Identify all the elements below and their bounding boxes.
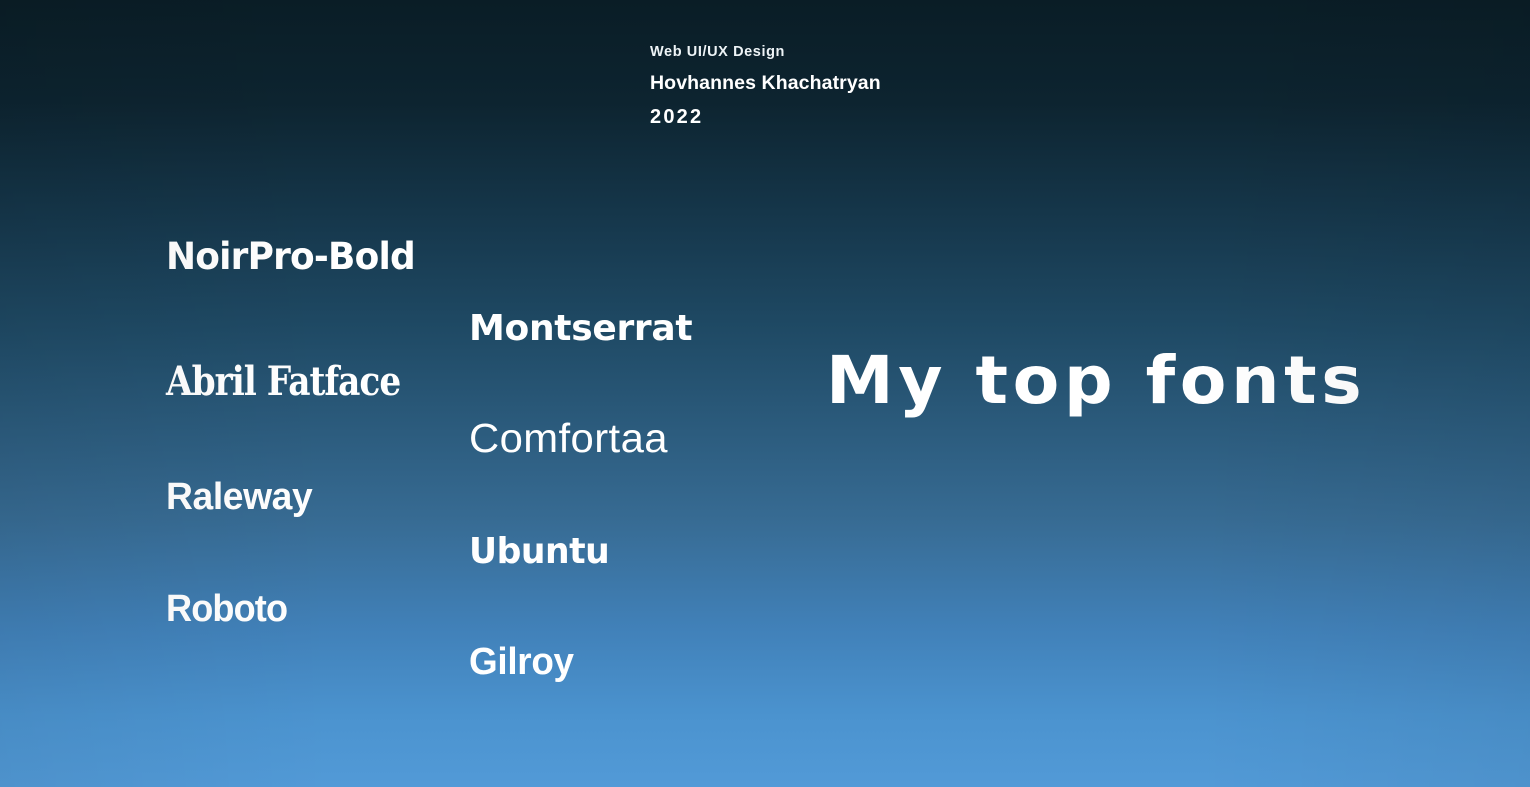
font-specimen-comfortaa: Comfortaa	[469, 418, 668, 459]
font-specimen-raleway: Raleway	[166, 478, 312, 516]
designer-name: Hovhannes Khachatryan	[650, 73, 881, 94]
font-specimen-abril-fatface: Abril Fatface	[166, 362, 400, 402]
font-showcase-poster: Web UI/UX Design Hovhannes Khachatryan 2…	[0, 0, 1530, 787]
designer-role: Web UI/UX Design	[650, 45, 881, 61]
font-specimen-gilroy: Gilroy	[469, 643, 574, 681]
font-specimen-ubuntu: Ubuntu	[469, 534, 609, 570]
poster-headline: My top fonts	[826, 348, 1366, 414]
font-specimen-roboto: Roboto	[166, 590, 287, 628]
font-specimen-noirpro-bold: NoirPro-Bold	[166, 238, 415, 275]
font-specimen-montserrat: Montserrat	[469, 311, 692, 347]
year-label: 2022	[650, 106, 881, 128]
header-credits-block: Web UI/UX Design Hovhannes Khachatryan 2…	[650, 45, 881, 128]
